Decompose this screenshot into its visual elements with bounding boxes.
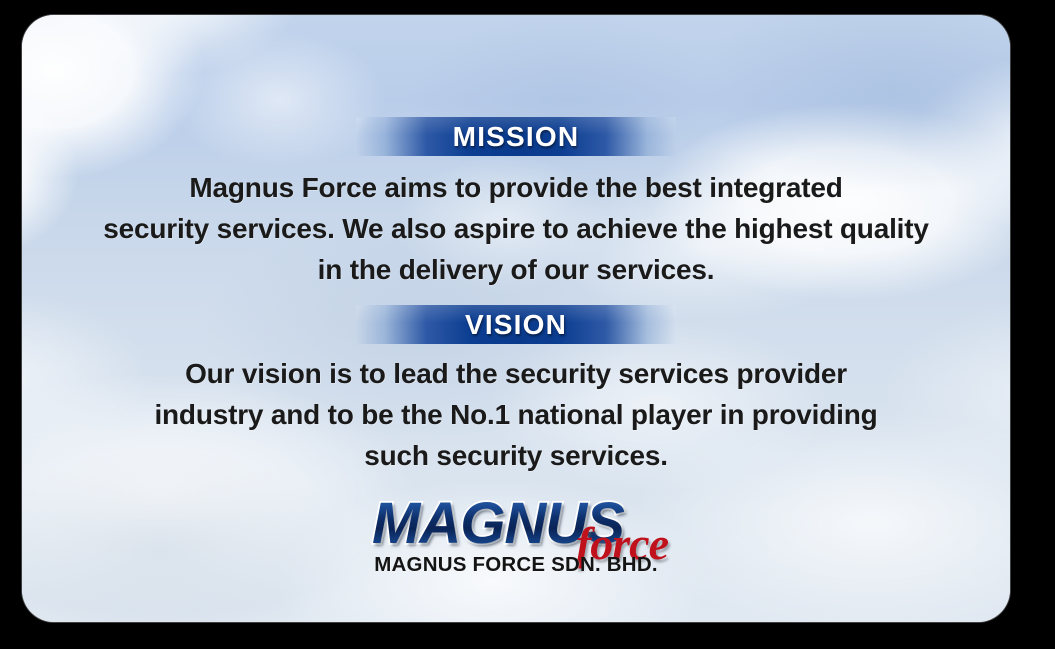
mission-line-1: Magnus Force aims to provide the best in… (101, 167, 931, 208)
vision-paragraph: Our vision is to lead the security servi… (101, 353, 931, 476)
logo-tagline: MAGNUS FORCE SDN. BHD. (366, 553, 666, 577)
mission-line-2: security services. We also aspire to ach… (101, 208, 931, 249)
vision-line-3: such security services. (101, 435, 931, 476)
mission-paragraph: Magnus Force aims to provide the best in… (101, 167, 931, 290)
magnus-force-logo: MAGNUS MAGNUS force MAGNUS FORCE SDN. BH… (366, 495, 666, 587)
mission-banner: MISSION (356, 117, 676, 156)
vision-line-1: Our vision is to lead the security servi… (101, 353, 931, 394)
mission-vision-card: MISSION Magnus Force aims to provide the… (22, 15, 1010, 622)
vision-banner-label: VISION (465, 309, 567, 341)
mission-banner-label: MISSION (453, 121, 580, 153)
card-content: MISSION Magnus Force aims to provide the… (22, 15, 1010, 622)
vision-line-2: industry and to be the No.1 national pla… (101, 394, 931, 435)
mission-line-3: in the delivery of our services. (101, 249, 931, 290)
vision-banner: VISION (356, 305, 676, 344)
